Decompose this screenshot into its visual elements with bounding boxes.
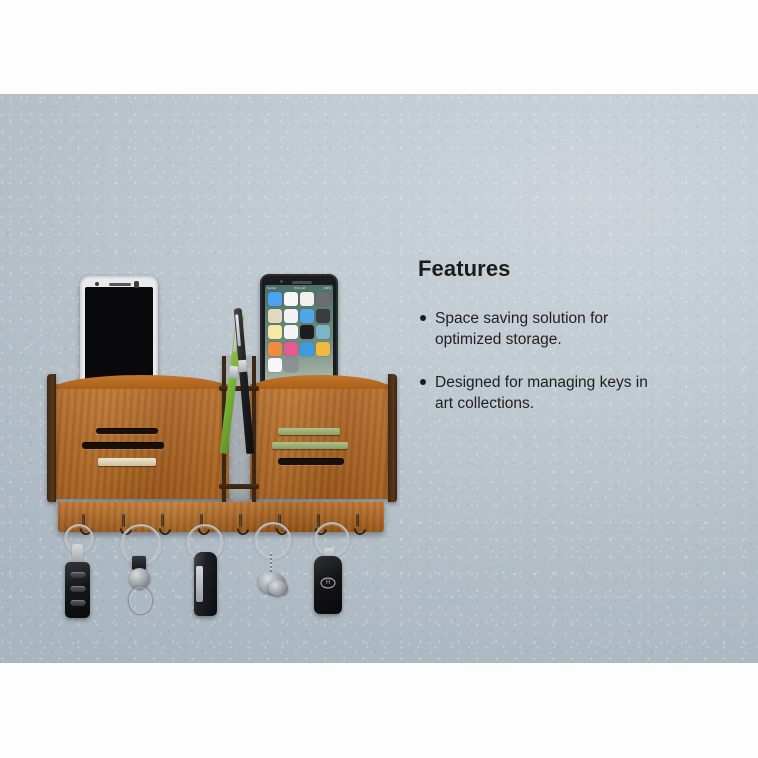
front-camera-icon (280, 280, 283, 283)
app-icon-stocks[interactable] (300, 325, 314, 339)
earpiece-speaker (109, 283, 131, 286)
earpiece-speaker (292, 281, 312, 284)
sensor-dot (134, 281, 139, 288)
pen-holder (222, 356, 256, 514)
app-icon-videos[interactable] (316, 325, 330, 339)
app-icon-music[interactable] (284, 342, 298, 356)
key-ring-lower (128, 586, 153, 615)
fob-button[interactable] (70, 600, 85, 606)
key-fob-body: H (314, 556, 342, 614)
inserted-card (272, 442, 348, 449)
app-icon-appstore[interactable] (300, 342, 314, 356)
key-chain-links (270, 552, 272, 574)
app-icon-wallet[interactable] (316, 309, 330, 323)
bullet-icon (420, 315, 426, 321)
key-hook[interactable] (354, 514, 362, 531)
status-bar: Carrier 9:41 AM 100% (265, 285, 333, 291)
front-camera-icon (95, 282, 99, 286)
status-battery: 100% (323, 285, 331, 291)
fob-button[interactable] (70, 572, 85, 578)
app-icon-settings[interactable] (284, 358, 298, 372)
key-phone-organizer: Carrier 9:41 AM 100% (44, 274, 392, 604)
app-icon-clock[interactable] (284, 309, 298, 323)
inserted-card (278, 428, 340, 435)
pen-grip (229, 366, 238, 379)
key-hook[interactable] (237, 514, 245, 531)
product-photo: Features Space saving solution for optim… (0, 94, 758, 663)
key-ring (254, 522, 292, 560)
app-icon-photos[interactable] (300, 292, 314, 306)
app-icon-home[interactable] (316, 342, 330, 356)
feature-list-item: Space saving solution for optimized stor… (418, 308, 718, 350)
pen-holder-rail (219, 484, 259, 489)
app-icon-calendar[interactable] (284, 292, 298, 306)
feature-text: Space saving solution for optimized stor… (435, 308, 650, 350)
app-icon-grid[interactable] (265, 291, 333, 373)
pen-holder-rail (219, 386, 259, 391)
app-icon-facetime[interactable] (268, 292, 282, 306)
pen-grip (238, 360, 247, 373)
key-hook[interactable] (159, 514, 167, 531)
inserted-card (98, 458, 156, 466)
bullet-icon (420, 379, 426, 385)
app-icon-weather[interactable] (300, 309, 314, 323)
app-icon-notes[interactable] (268, 325, 282, 339)
fob-metal-strip (196, 566, 203, 602)
page-canvas: Features Space saving solution for optim… (0, 0, 758, 758)
features-panel: Features Space saving solution for optim… (418, 256, 718, 436)
left-phone-tray (54, 384, 229, 499)
key-fob-body (65, 562, 90, 618)
card-slot-dark (82, 442, 164, 449)
status-carrier: Carrier (267, 285, 276, 291)
feature-list-item: Designed for managing keys in art collec… (418, 372, 718, 414)
left-end-cap (47, 374, 56, 502)
feature-text: Designed for managing keys in art collec… (435, 372, 650, 414)
hyundai-logo-icon: H (321, 577, 336, 588)
app-icon-camera[interactable] (316, 292, 330, 306)
status-clock: 9:41 AM (294, 285, 305, 291)
fob-button[interactable] (70, 586, 85, 592)
features-heading: Features (418, 256, 718, 282)
card-slot-dark (278, 458, 344, 465)
pen-clip (235, 314, 241, 346)
app-icon-health[interactable] (268, 358, 282, 372)
right-phone-tray (250, 384, 390, 499)
app-icon-reminders[interactable] (284, 325, 298, 339)
motorcycle-charm-icon (268, 580, 288, 596)
app-icon-books[interactable] (268, 342, 282, 356)
right-end-cap (388, 374, 397, 502)
card-slot-dark (96, 428, 158, 434)
app-icon-mail[interactable] (268, 309, 282, 323)
key-fob-body (194, 552, 217, 616)
